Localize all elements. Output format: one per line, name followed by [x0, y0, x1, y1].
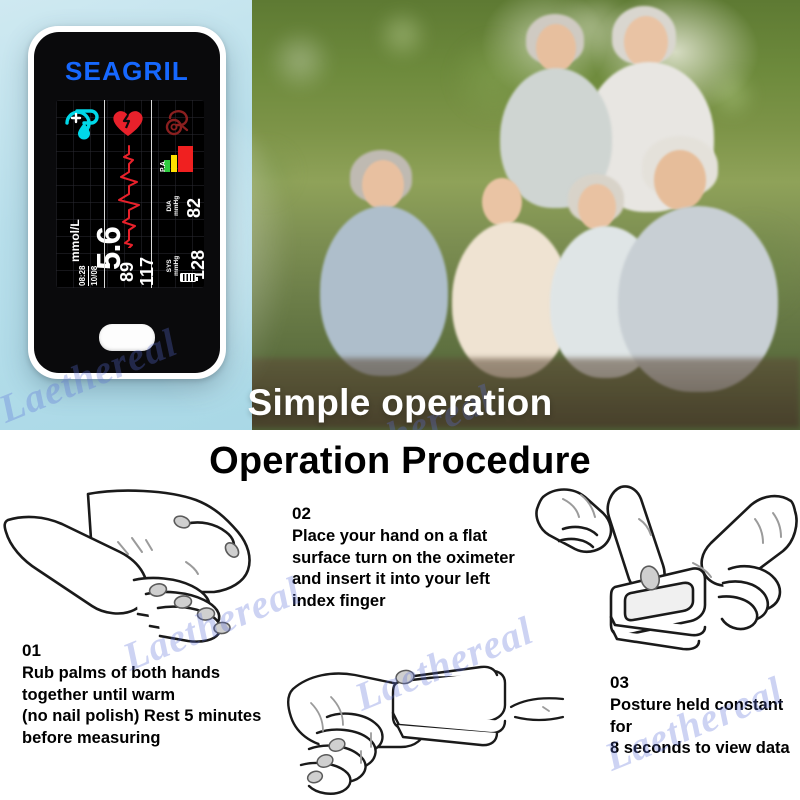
product-infographic: SEAGRIL 5.6 mmol/L [0, 0, 800, 800]
step-03: 03 Posture held constant for 8 seconds t… [610, 672, 800, 760]
oximeter-device: SEAGRIL 5.6 mmol/L [28, 26, 226, 379]
device-power-button[interactable] [99, 324, 155, 351]
diastolic-label: DIA [166, 196, 173, 216]
level-bar-yellow [171, 155, 177, 172]
blood-pressure-cuff-icon [152, 106, 201, 140]
step-03-number: 03 [610, 672, 800, 695]
hero-photo-background [232, 0, 800, 432]
ecg-panel: 117 89 [104, 100, 152, 288]
hero-section: SEAGRIL 5.6 mmol/L [0, 0, 800, 432]
step-02-text: Place your hand on a flat surface turn o… [292, 526, 550, 613]
illustration-hand-resting-flat [275, 655, 567, 800]
blood-pressure-level-bars [164, 146, 194, 172]
step-01: 01 Rub palms of both hands together unti… [22, 640, 284, 750]
step-02-number: 02 [292, 503, 550, 526]
step-03-text: Posture held constant for 8 seconds to v… [610, 695, 800, 760]
step-02: 02 Place your hand on a flat surface tur… [292, 503, 550, 613]
page-title: Operation Procedure [0, 440, 800, 483]
step-01-text: Rub palms of both hands together until w… [22, 663, 284, 750]
pa-label: P.A [160, 161, 167, 172]
device-brand-label: SEAGRIL [34, 56, 220, 87]
glucose-unit: mmol/L [68, 219, 82, 262]
measurement-time: 08:28 [78, 266, 88, 286]
blood-pressure-panel: P.A 82 DIA mmHg 128 SYS mmHg [152, 100, 201, 288]
heart-icon [105, 106, 151, 140]
ecg-waveform [111, 144, 147, 248]
seniors-group-photo [232, 0, 800, 432]
diastolic-label-block: DIA mmHg [166, 196, 181, 216]
measurement-date: 10/08 [88, 266, 100, 286]
ecg-value-secondary: 89 [117, 262, 138, 282]
measurement-timestamp: 08:28 10/08 [78, 266, 100, 286]
device-screen: 5.6 mmol/L 08:28 10/08 [56, 100, 204, 288]
hero-banner-text: Simple operation [0, 382, 800, 424]
glucose-panel: 5.6 mmol/L 08:28 10/08 [56, 100, 104, 288]
step-01-number: 01 [22, 640, 284, 663]
illustration-insert-finger [533, 483, 800, 651]
systolic-label-block: SYS mmHg [166, 256, 181, 276]
battery-icon [180, 273, 196, 282]
device-body: SEAGRIL 5.6 mmol/L [34, 32, 220, 373]
illustration-hands-rubbing [0, 488, 282, 650]
level-bar-red [178, 146, 193, 172]
diastolic-value: 82 [184, 198, 204, 218]
systolic-label: SYS [166, 256, 173, 276]
diastolic-unit: mmHg [173, 196, 180, 216]
blood-drop-icon [56, 106, 104, 140]
